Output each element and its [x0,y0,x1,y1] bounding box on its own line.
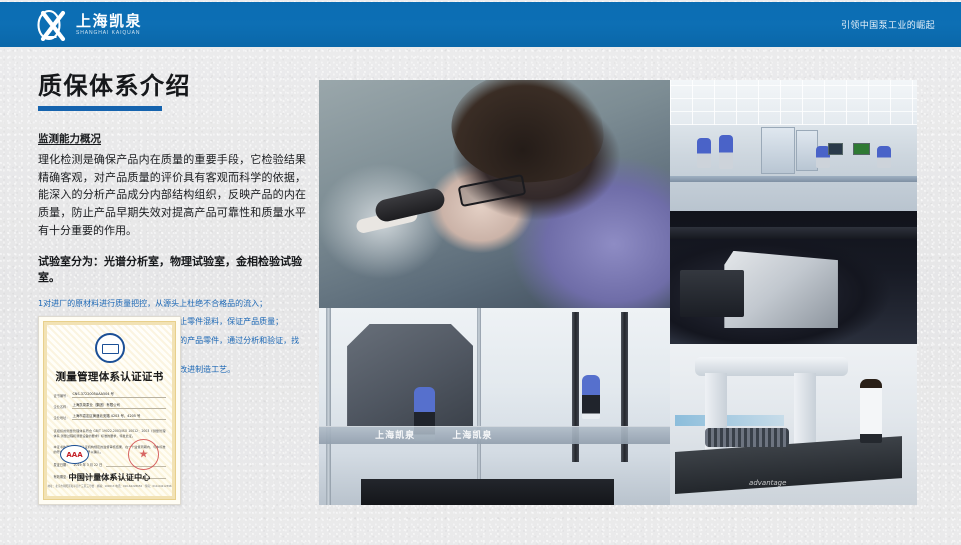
photo-detail-cabinet [796,130,818,171]
list-item: 1对进厂的原材料进行质量把控，从源头上杜绝不合格品的流入； [38,298,306,309]
photo-detail-glass-mullion [326,308,331,505]
field-label: 企业地址： [54,415,70,420]
photo-laboratory-room[interactable] [670,80,917,211]
brand-name-en: SHANGHAI KAIQUAN [76,31,142,36]
photo-microscope-inspection[interactable] [319,80,670,308]
aaa-rating-stamp-icon: AAA [60,445,89,464]
certification-emblem-icon [95,333,125,363]
field-label: 证书编号： [54,393,70,398]
brand-logo[interactable]: 上海凯泉 SHANGHAI KAIQUAN [36,9,142,41]
photo-detail-monitor [853,143,870,155]
photo-detail-glass-mullion [477,308,481,505]
photo-optical-microscope[interactable] [670,211,917,344]
photo-glass-logo-right: 上海凯泉 [452,428,492,441]
photo-detail-glass-band [319,426,670,444]
photo-detail-technician [860,379,882,443]
photo-detail-ceiling [670,80,917,125]
photo-detail-granite-table [361,479,614,505]
field-label: 企业名称： [54,404,70,409]
photo-detail-cabinet [761,127,795,174]
photo-detail-cmm-leg [794,373,816,450]
laboratory-types-line: 试验室分为：光谱分析室，物理试验室，金相检验试验室。 [38,254,306,287]
photo-detail-bench [670,176,917,182]
brand-name-cn: 上海凯泉 [76,14,142,29]
photo-glass-logo-left: 上海凯泉 [375,428,415,441]
photo-cmm-measurement[interactable]: advantage [670,344,917,505]
photo-detail-eyepiece [374,186,447,223]
photo-detail-pump-shaft [705,428,789,447]
title-underline-rule [38,106,162,111]
official-red-seal-icon [128,439,159,470]
certificate-fields: 证书编号： CNS-3722005AAA504 号 企业名称： 上海凯泉泵业（集… [54,391,166,424]
certificate-image[interactable]: 测量管理体系认证证书 证书编号： CNS-3722005AAA504 号 企业名… [38,316,181,505]
section-subheading: 监测能力概况 [38,131,306,146]
photo-detail-glasses [458,174,527,207]
photo-detail-worker [697,138,711,168]
page-title: 质保体系介绍 [38,72,306,101]
certificate-inner-frame: 测量管理体系认证证书 证书编号： CNS-3722005AAA504 号 企业名… [44,322,175,499]
photo-detail-wall-banner [675,415,784,426]
certificate-field-row: 证书编号： CNS-3722005AAA504 号 [54,391,166,398]
page-header: 上海凯泉 SHANGHAI KAIQUAN 引领中国泵工业的崛起 [0,2,961,47]
photo-detail-camera-box [680,270,744,318]
certificate-issuing-org: 中国计量体系认证中心 [47,472,172,483]
certificate-contact-text: 地址：北京市朝阳区和平街十三区三号楼 邮编：100013 电话：010-6422… [47,485,172,489]
field-value: CNS-3722005AAA504 号 [72,391,165,398]
photo-collage: 上海凯泉 上海凯泉 advantage [319,80,917,505]
field-value: 上海市嘉定区黄渡北安路 4203 号、4205 号 [72,413,165,420]
certificate-title: 测量管理体系认证证书 [56,369,164,384]
certificate-stamps: AAA [47,439,172,470]
slide-root: 上海凯泉 SHANGHAI KAIQUAN 引领中国泵工业的崛起 质保体系介绍 … [0,0,961,545]
field-value: 上海凯泉泵业（集团）有限公司 [72,402,165,409]
certificate-field-row: 企业地址： 上海市嘉定区黄渡北安路 4203 号、4205 号 [54,413,166,420]
photo-detail-worker [877,146,891,168]
kaiquan-x-mark-icon [36,9,70,41]
certificate-field-row: 企业名称： 上海凯泉泵业（集团）有限公司 [54,402,166,409]
photo-tensile-testing-lab[interactable]: 上海凯泉 上海凯泉 [319,308,670,505]
photo-detail-worker [719,135,733,169]
photo-detail-overhead-bar [670,227,917,239]
header-slogan: 引领中国泵工业的崛起 [841,2,935,47]
photo-brand-mark: advantage [749,479,786,487]
photo-detail-hair [445,80,609,193]
intro-paragraph: 理化检测是确保产品内在质量的重要手段，它检验结果精确客观，对产品质量的评价具有客… [38,151,306,240]
photo-detail-monitor [828,143,843,155]
photo-detail-test-chamber [347,324,473,426]
photo-detail-operator [582,375,600,419]
certificate-footer: 中国计量体系认证中心 地址：北京市朝阳区和平街十三区三号楼 邮编：100013 … [47,472,172,489]
